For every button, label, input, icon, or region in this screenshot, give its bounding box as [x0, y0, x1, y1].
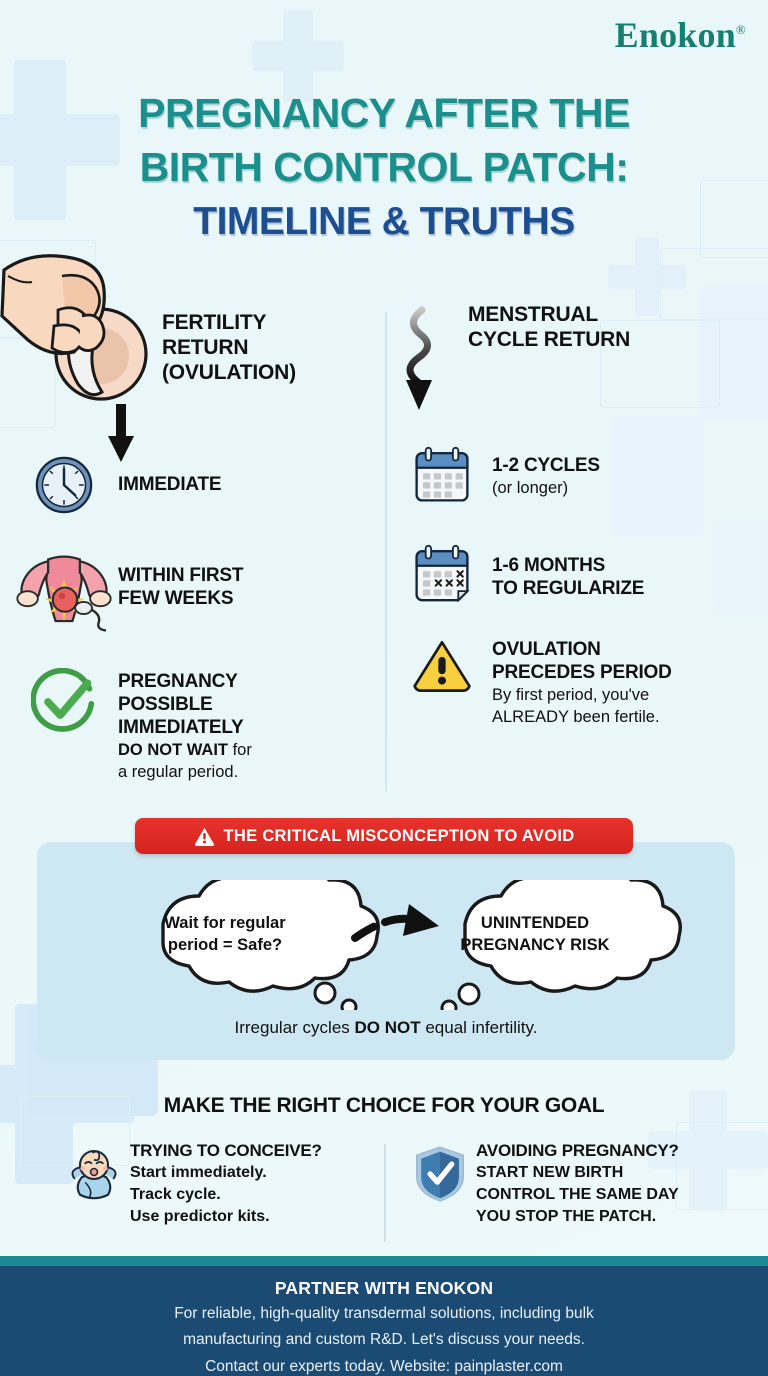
page-title: PREGNANCY AFTER THE BIRTH CONTROL PATCH:… — [0, 86, 768, 250]
list-item: 1-6 MONTHS TO REGULARIZE — [392, 544, 762, 602]
footer-line-2: manufacturing and custom R&D. Let's disc… — [0, 1329, 768, 1351]
months-line-1: 1-6 MONTHS — [492, 554, 644, 577]
cycles-label: 1-2 CYCLES — [492, 454, 600, 477]
conceive-line-3: Use predictor kits. — [130, 1207, 322, 1227]
list-item: OVULATION PRECEDES PERIOD By first perio… — [392, 638, 762, 728]
calendar-crossed-icon — [392, 544, 492, 602]
pregnancy-possible-line-1: PREGNANCY — [118, 670, 252, 693]
cloud-left-line-1: Wait for regular — [125, 912, 325, 934]
goal-option-avoid: AVOIDING PREGNANCY? START NEW BIRTH CONT… — [404, 1140, 744, 1227]
uterus-ovulation-icon — [10, 552, 118, 636]
infographic-page: Enokon® PREGNANCY AFTER THE BIRTH CONTRO… — [0, 0, 768, 1376]
avoid-line-2: CONTROL THE SAME DAY — [476, 1185, 679, 1205]
do-not-wait-line: DO NOT WAIT for — [118, 740, 252, 761]
already-fertile-line-1: By first period, you've — [492, 685, 672, 706]
menstrual-title-line-2: CYCLE RETURN — [468, 327, 630, 352]
already-fertile-line-2: ALREADY been fertile. — [492, 707, 672, 728]
straight-down-arrow-icon — [108, 404, 134, 460]
cycles-sublabel: (or longer) — [492, 478, 600, 499]
warning-triangle-icon — [392, 638, 492, 694]
footnote-post: equal infertility. — [421, 1018, 538, 1037]
column-divider — [385, 312, 387, 792]
footer-title: PARTNER WITH ENOKON — [0, 1278, 768, 1299]
fertility-title-line-1: FERTILITY — [162, 310, 296, 335]
brand-logo: Enokon® — [615, 14, 746, 56]
title-line-2: BIRTH CONTROL PATCH: — [0, 140, 768, 194]
menstrual-title-line-1: MENSTRUAL — [468, 302, 630, 327]
warning-triangle-icon — [194, 827, 215, 846]
regular-period-line: a regular period. — [118, 762, 252, 783]
footnote-pre: Irregular cycles — [235, 1018, 355, 1037]
do-not-wait-strong: DO NOT WAIT — [118, 741, 228, 759]
misconception-footnote: Irregular cycles DO NOT equal infertilit… — [37, 1018, 735, 1038]
column-menstrual-cycle-return: MENSTRUAL CYCLE RETURN — [392, 296, 762, 352]
column-fertility-return: FERTILITY RETURN (OVULATION) — [10, 296, 380, 385]
baby-icon — [58, 1140, 130, 1200]
cloud-right-line-1: UNINTENDED — [429, 912, 641, 934]
within-first-line-1: WITHIN FIRST — [118, 564, 243, 587]
footer-accent-strip — [0, 1256, 768, 1266]
title-line-1: PREGNANCY AFTER THE — [0, 86, 768, 140]
immediate-label: IMMEDIATE — [118, 473, 221, 496]
goal-options: TRYING TO CONCEIVE? Start immediately. T… — [0, 1140, 768, 1250]
shield-check-icon — [404, 1140, 476, 1204]
footer-line-3: Contact our experts today. Website: pain… — [0, 1356, 768, 1376]
avoid-heading: AVOIDING PREGNANCY? — [476, 1140, 679, 1161]
goal-section-title: MAKE THE RIGHT CHOICE FOR YOUR GOAL — [0, 1094, 768, 1118]
pregnancy-possible-line-2: POSSIBLE — [118, 693, 252, 716]
avoid-line-1: START NEW BIRTH — [476, 1163, 679, 1183]
list-item: WITHIN FIRST FEW WEEKS — [10, 552, 380, 636]
brand-name: Enokon — [615, 15, 736, 55]
conceive-line-2: Track cycle. — [130, 1185, 322, 1205]
footnote-strong: DO NOT — [355, 1018, 421, 1037]
misconception-clouds: Wait for regular period = Safe? UNINTEND… — [37, 880, 735, 1010]
within-first-line-2: FEW WEEKS — [118, 587, 243, 610]
cloud-left-line-2: period = Safe? — [125, 934, 325, 956]
pregnancy-possible-line-3: IMMEDIATELY — [118, 716, 252, 739]
clock-icon — [10, 456, 118, 514]
list-item: PREGNANCY POSSIBLE IMMEDIATELY DO NOT WA… — [10, 668, 380, 783]
list-item: IMMEDIATE — [10, 456, 380, 514]
conceive-line-1: Start immediately. — [130, 1163, 322, 1183]
misconception-banner: THE CRITICAL MISCONCEPTION TO AVOID — [135, 818, 633, 854]
months-line-2: TO REGULARIZE — [492, 577, 644, 600]
list-item: 1-2 CYCLES (or longer) — [392, 446, 762, 504]
fertility-title-line-2: RETURN — [162, 335, 296, 360]
fertility-rows: IMMEDIATE — [10, 456, 380, 809]
ovulation-precedes-line-2: PRECEDES PERIOD — [492, 661, 672, 684]
do-not-wait-rest: for — [228, 741, 252, 759]
fertility-title-line-3: (OVULATION) — [162, 360, 296, 385]
timeline-columns: FERTILITY RETURN (OVULATION) — [0, 296, 768, 796]
misconception-banner-label: THE CRITICAL MISCONCEPTION TO AVOID — [224, 827, 575, 846]
goal-divider — [384, 1144, 386, 1242]
ovulation-precedes-line-1: OVULATION — [492, 638, 672, 661]
conceive-heading: TRYING TO CONCEIVE? — [130, 1140, 322, 1161]
squiggly-down-arrow-icon — [388, 306, 460, 424]
avoid-line-3: YOU STOP THE PATCH. — [476, 1207, 679, 1227]
hand-peeling-patch-icon — [0, 232, 168, 432]
green-check-circle-icon — [10, 668, 118, 734]
footer: PARTNER WITH ENOKON For reliable, high-q… — [0, 1266, 768, 1376]
registered-mark: ® — [736, 22, 746, 37]
cloud-right-text: UNINTENDED PREGNANCY RISK — [429, 912, 641, 956]
footer-line-1: For reliable, high-quality transdermal s… — [0, 1303, 768, 1325]
goal-option-conceive: TRYING TO CONCEIVE? Start immediately. T… — [58, 1140, 378, 1227]
cloud-left-text: Wait for regular period = Safe? — [125, 912, 325, 956]
calendar-icon — [392, 446, 492, 504]
menstrual-rows: 1-2 CYCLES (or longer) — [392, 446, 762, 754]
cloud-right-line-2: PREGNANCY RISK — [429, 934, 641, 956]
